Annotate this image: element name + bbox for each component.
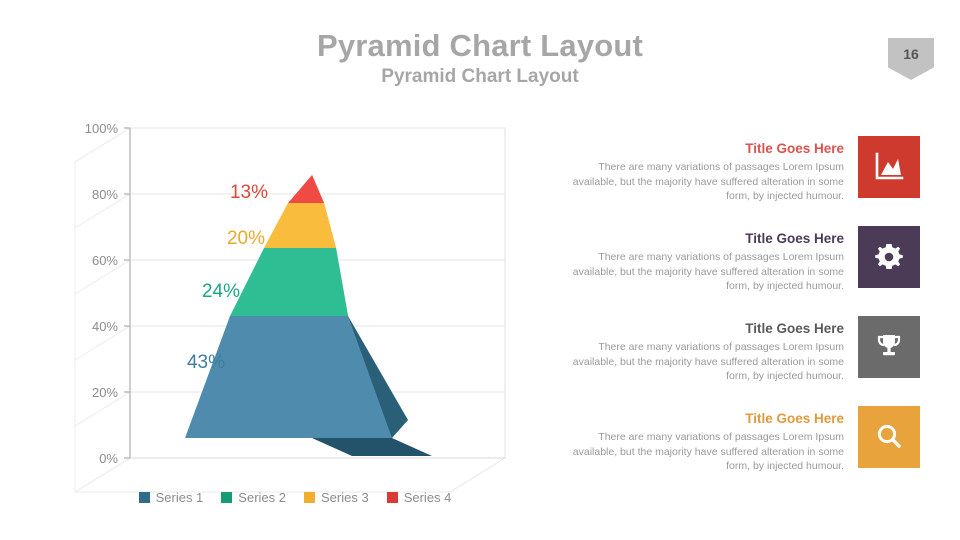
legend-label-series1: Series 1 bbox=[156, 490, 204, 505]
search-icon[interactable] bbox=[858, 406, 920, 468]
data-label-series4: 13% bbox=[230, 182, 268, 203]
legend-label-series3: Series 3 bbox=[321, 490, 369, 505]
y-tick-80: 80% bbox=[92, 187, 118, 202]
feature-title-4: Title Goes Here bbox=[570, 412, 844, 426]
feature-list: Title Goes Here There are many variation… bbox=[520, 136, 920, 496]
legend-item-series3[interactable]: Series 3 bbox=[304, 490, 369, 505]
feature-description-4: There are many variations of passages Lo… bbox=[570, 430, 844, 474]
y-tick-60: 60% bbox=[92, 253, 118, 268]
feature-text-4: Title Goes Here There are many variation… bbox=[570, 406, 858, 474]
page-title: Pyramid Chart Layout bbox=[0, 28, 960, 64]
data-label-series1: 43% bbox=[187, 352, 225, 373]
feature-title-3: Title Goes Here bbox=[570, 322, 844, 336]
legend-swatch-series4 bbox=[387, 492, 398, 503]
legend-swatch-series3 bbox=[304, 492, 315, 503]
feature-item-2[interactable]: Title Goes Here There are many variation… bbox=[520, 226, 920, 316]
data-label-series2: 24% bbox=[202, 281, 240, 302]
legend-label-series2: Series 2 bbox=[238, 490, 286, 505]
feature-item-1[interactable]: Title Goes Here There are many variation… bbox=[520, 136, 920, 226]
feature-item-4[interactable]: Title Goes Here There are many variation… bbox=[520, 406, 920, 496]
y-tick-0: 0% bbox=[99, 451, 118, 466]
feature-description-1: There are many variations of passages Lo… bbox=[570, 160, 844, 204]
feature-item-3[interactable]: Title Goes Here There are many variation… bbox=[520, 316, 920, 406]
pyramid-chart: 100% 80% 60% 40% 20% 0% bbox=[40, 120, 520, 515]
feature-description-3: There are many variations of passages Lo… bbox=[570, 340, 844, 384]
y-tick-100: 100% bbox=[85, 121, 119, 136]
feature-description-2: There are many variations of passages Lo… bbox=[570, 250, 844, 294]
gear-icon[interactable] bbox=[858, 226, 920, 288]
legend-item-series4[interactable]: Series 4 bbox=[387, 490, 452, 505]
feature-title-2: Title Goes Here bbox=[570, 232, 844, 246]
area-chart-icon[interactable] bbox=[858, 136, 920, 198]
data-label-series3: 20% bbox=[227, 228, 265, 249]
legend-item-series2[interactable]: Series 2 bbox=[221, 490, 286, 505]
y-tick-40: 40% bbox=[92, 319, 118, 334]
slide-header: Pyramid Chart Layout Pyramid Chart Layou… bbox=[0, 0, 960, 110]
trophy-icon[interactable] bbox=[858, 316, 920, 378]
legend-swatch-series2 bbox=[221, 492, 232, 503]
legend-swatch-series1 bbox=[139, 492, 150, 503]
y-tick-20: 20% bbox=[92, 385, 118, 400]
feature-text-1: Title Goes Here There are many variation… bbox=[570, 136, 858, 204]
feature-text-3: Title Goes Here There are many variation… bbox=[570, 316, 858, 384]
feature-text-2: Title Goes Here There are many variation… bbox=[570, 226, 858, 294]
page-subtitle: Pyramid Chart Layout bbox=[0, 66, 960, 88]
legend-label-series4: Series 4 bbox=[404, 490, 452, 505]
pyramid-chart-svg: 100% 80% 60% 40% 20% 0% bbox=[40, 120, 520, 515]
chart-legend: Series 1 Series 2 Series 3 Series 4 bbox=[125, 485, 465, 509]
legend-item-series1[interactable]: Series 1 bbox=[139, 490, 204, 505]
feature-title-1: Title Goes Here bbox=[570, 142, 844, 156]
